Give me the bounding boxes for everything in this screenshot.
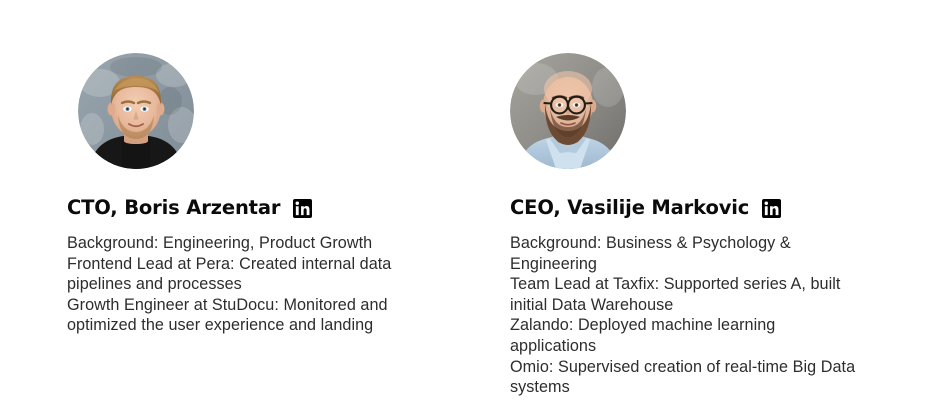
bio-line: Frontend Lead at Pera: Created internal … [67,254,412,295]
linkedin-icon[interactable] [293,199,312,218]
profile-bio: Background: Business & Psychology & Engi… [510,233,862,398]
person-name: CTO, Boris Arzentar [67,196,280,220]
avatar [78,53,194,169]
linkedin-icon[interactable] [762,199,781,218]
person-name: CEO, Vasilije Markovic [510,196,749,220]
avatar-photo-boris [78,53,194,169]
bio-line: Zalando: Deployed machine learning appli… [510,315,862,356]
profile-bio: Background: Engineering, Product Growth … [67,233,412,336]
bio-line: Background: Engineering, Product Growth [67,233,412,254]
profile-heading: CEO, Vasilije Markovic [510,196,781,220]
bio-line: Background: Business & Psychology & Engi… [510,233,862,274]
bio-line: Omio: Supervised creation of real-time B… [510,357,862,398]
profile-heading: CTO, Boris Arzentar [67,196,312,220]
avatar [510,53,626,169]
team-bios-slide: CTO, Boris Arzentar Background: Engineer… [0,0,948,412]
bio-line: Team Lead at Taxfix: Supported series A,… [510,274,862,315]
avatar-photo-vasilije [510,53,626,169]
bio-line: Growth Engineer at StuDocu: Monitored an… [67,295,412,336]
